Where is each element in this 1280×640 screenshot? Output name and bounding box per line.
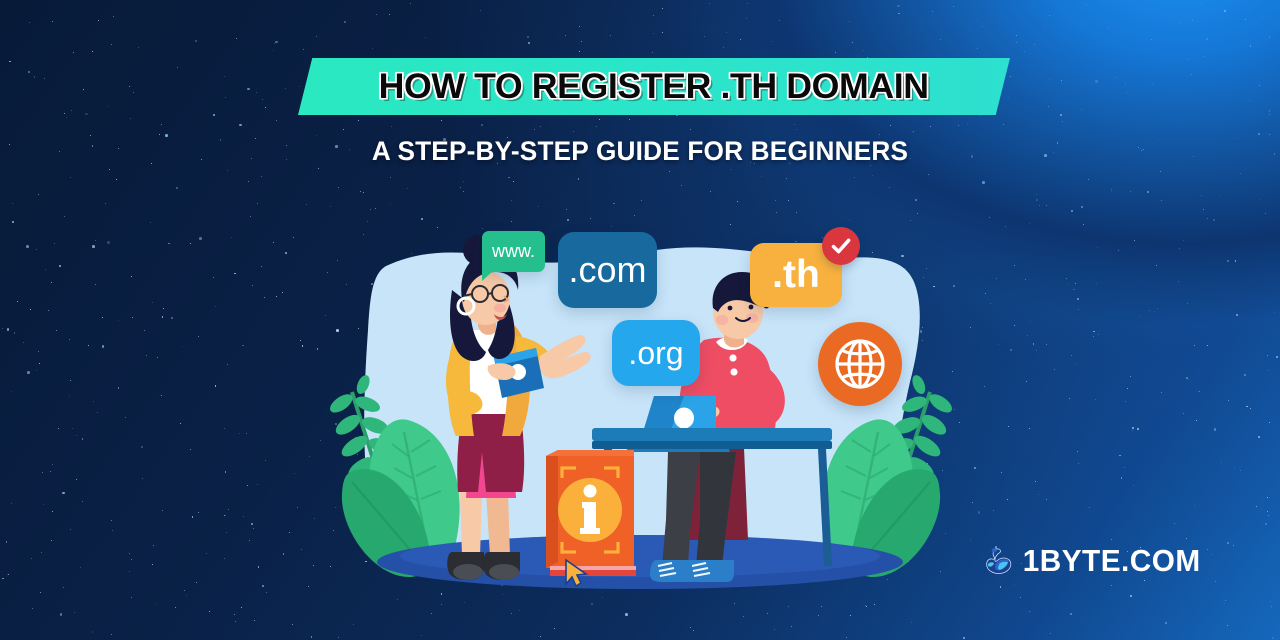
info-book [546, 450, 636, 586]
www-label: www. [492, 241, 535, 262]
org-card[interactable]: .org [612, 320, 700, 386]
check-icon [822, 227, 860, 265]
page-subtitle: A STEP-BY-STEP GUIDE FOR BEGINNERS [19, 136, 1261, 167]
brand-name: 1BYTE.COM [1022, 543, 1200, 579]
com-card[interactable]: .com [558, 232, 657, 308]
th-label: .th [772, 253, 820, 297]
brand-logo[interactable]: 1BYTE.COM [982, 528, 1204, 594]
globe-icon[interactable] [818, 322, 902, 406]
org-label: .org [628, 335, 683, 372]
www-bubble[interactable]: www. [482, 231, 545, 272]
title-banner: HOW TO REGISTER .TH DOMAIN [298, 58, 1010, 115]
page-title: HOW TO REGISTER .TH DOMAIN [379, 67, 929, 107]
whale-logo-icon [982, 530, 1013, 592]
poster-canvas: HOW TO REGISTER .TH DOMAIN A STEP-BY-STE… [0, 0, 1280, 640]
com-label: .com [568, 249, 646, 291]
